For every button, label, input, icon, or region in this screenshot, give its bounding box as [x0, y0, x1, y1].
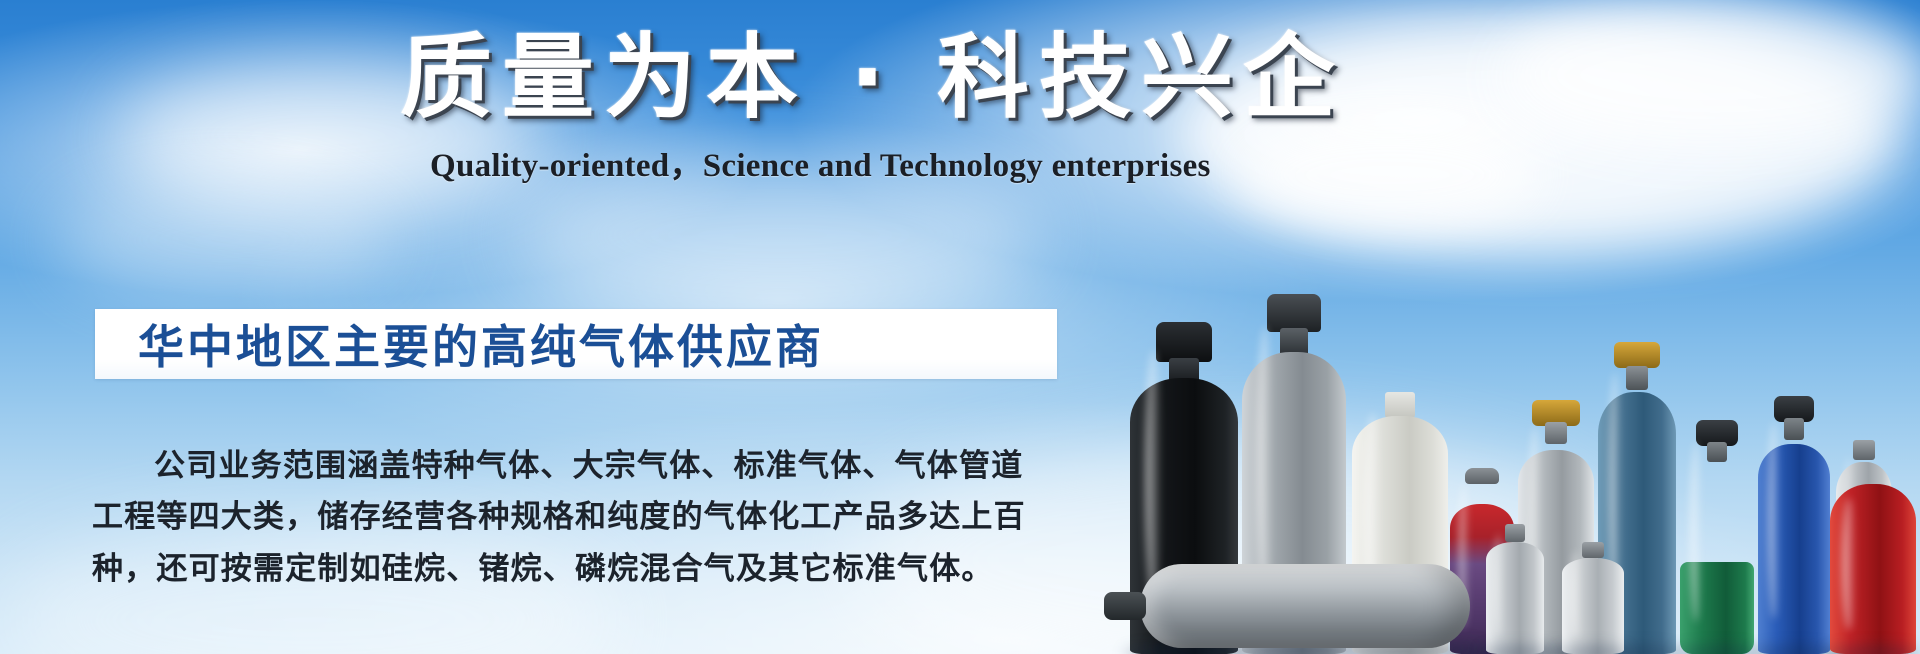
cylinder-aluminium-1: [1486, 524, 1544, 654]
cloud-decoration: [1500, 0, 1920, 150]
description-line-3: 种，还可按需定制如硅烷、锗烷、磷烷混合气及其它标准气体。: [92, 543, 1072, 594]
description-line-2: 工程等四大类，储存经营各种规格和纯度的气体化工产品多达上百: [92, 491, 1072, 542]
tagline-text: 华中地区主要的高纯气体供应商: [138, 311, 824, 377]
cylinder-aluminium-2: [1562, 542, 1624, 654]
tagline-box: 华中地区主要的高纯气体供应商: [95, 309, 1057, 379]
banner-headline: 质量为本 · 科技兴企: [400, 26, 1345, 129]
cylinder-red: [1830, 484, 1916, 654]
cylinder-blue: [1758, 402, 1830, 654]
banner-subheadline-english: Quality-oriented，Science and Technology …: [430, 138, 1211, 186]
cylinder-lying-grey: [1140, 564, 1470, 648]
cloud-decoration: [60, 180, 390, 300]
hero-banner: 质量为本 · 科技兴企 Quality-oriented，Science and…: [0, 0, 1920, 654]
banner-description: 公司业务范围涵盖特种气体、大宗气体、标准气体、气体管道 工程等四大类，储存经营各…: [92, 440, 1072, 594]
cylinder-green-band: [1680, 424, 1754, 654]
description-line-1: 公司业务范围涵盖特种气体、大宗气体、标准气体、气体管道: [92, 440, 1072, 491]
product-photo-gas-cylinders: [1130, 150, 1920, 654]
